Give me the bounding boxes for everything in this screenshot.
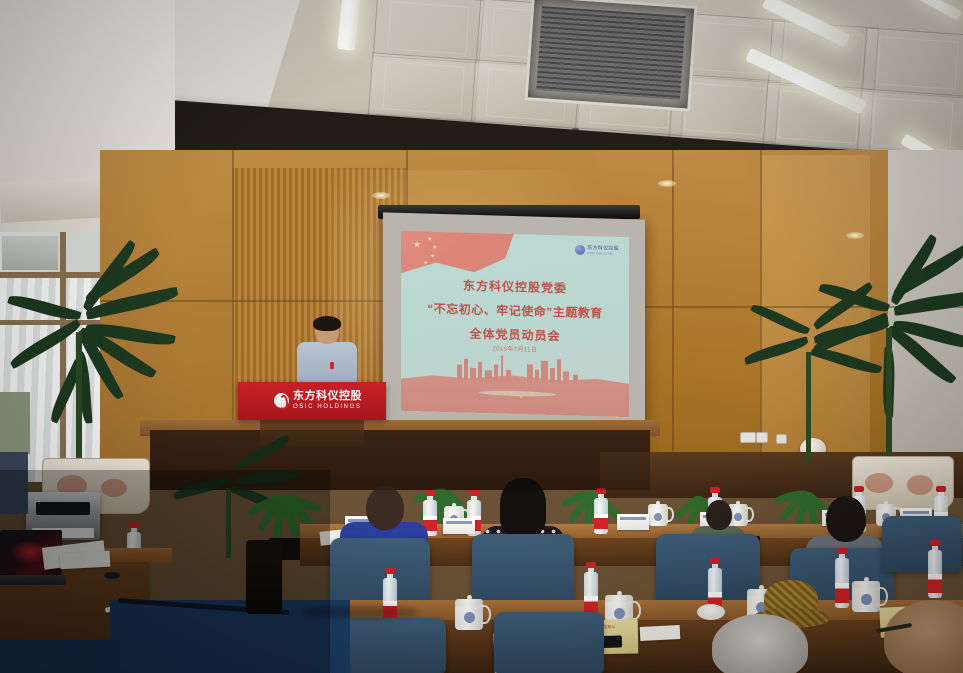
- slide-accent-star: ★: [509, 390, 513, 396]
- skyline-building: [464, 359, 468, 381]
- slide-accent-star: ★: [529, 391, 533, 397]
- palm-plant: [770, 300, 880, 480]
- palm-stem: [886, 328, 892, 468]
- osic-logo-icon: [274, 393, 289, 408]
- osic-logo-icon: [575, 244, 585, 254]
- presentation-slide: ★ ★ ★ ★ ★ 东方科仪控股 OSIC HOLDINGS 东方科仪控股党委 …: [401, 231, 629, 417]
- flag-star: ★: [430, 254, 435, 260]
- skyline-building: [470, 368, 476, 381]
- skyline-building: [494, 364, 498, 381]
- tea-mug[interactable]: [648, 502, 670, 526]
- skyline-building: [541, 361, 548, 383]
- skyline-building: [557, 359, 561, 383]
- name-card: [443, 518, 475, 534]
- attendee-head: [366, 486, 404, 530]
- water-bottle[interactable]: [594, 488, 608, 534]
- wall-downlight: [658, 180, 676, 187]
- water-bottle[interactable]: [928, 538, 942, 598]
- attendee-head: [706, 500, 732, 530]
- stage-shade: [150, 430, 650, 490]
- flag-star: ★: [427, 237, 432, 243]
- attendee-head: [826, 496, 866, 542]
- skyline-building: [550, 368, 555, 383]
- attendee-5: [700, 614, 820, 673]
- wall-outlet[interactable]: [756, 432, 768, 443]
- skyline-building: [573, 375, 578, 384]
- chair[interactable]: [338, 618, 446, 673]
- wall-downlight: [846, 232, 864, 239]
- slide-org-line: 东方科仪控股党委: [401, 275, 629, 298]
- meeting-room-photo: ★ ★ ★ ★ ★ 东方科仪控股 OSIC HOLDINGS 东方科仪控股党委 …: [0, 0, 963, 673]
- wall-outlet[interactable]: [740, 432, 756, 443]
- podium-logo-cn: 东方科仪控股: [293, 391, 362, 402]
- name-card: [617, 514, 649, 530]
- attendee-head: [712, 614, 808, 673]
- slide-ground-graphic: [401, 359, 629, 417]
- speaker-torso: [297, 342, 357, 386]
- water-bottle[interactable]: [584, 560, 598, 620]
- ceiling-tile: [368, 52, 479, 123]
- tea-mug[interactable]: [455, 596, 485, 630]
- wall-downlight: [372, 192, 390, 199]
- attendee-torso: [0, 392, 30, 454]
- tea-mug[interactable]: [852, 578, 882, 612]
- attendee-head: [884, 600, 963, 673]
- chair[interactable]: [882, 516, 962, 572]
- skyline-building: [457, 364, 462, 380]
- slide-logo: 东方科仪控股 OSIC HOLDINGS: [575, 244, 619, 256]
- slide-accent-star: ★: [519, 394, 523, 400]
- palm-frond: [810, 344, 882, 377]
- speaker-hair: [313, 316, 341, 331]
- skyline-building: [527, 364, 533, 382]
- skyline-building: [485, 370, 492, 381]
- slide-logo-en: OSIC HOLDINGS: [587, 251, 619, 256]
- speaker-person: [297, 318, 357, 384]
- attendee-6: [884, 600, 963, 673]
- skyline-building: [506, 370, 511, 382]
- flag-star: ★: [432, 245, 437, 251]
- slide-theme-line: “不忘初心、牢记使命”主题教育: [401, 299, 629, 322]
- skyline-building: [478, 362, 482, 381]
- podium-logo-en: OSIC HOLDINGS: [293, 404, 362, 410]
- flag-star: ★: [423, 260, 428, 266]
- flag-star: ★: [413, 241, 421, 247]
- water-bottle[interactable]: [835, 546, 849, 608]
- ceiling-ac-vent: [525, 0, 698, 112]
- palm-stem: [806, 352, 811, 462]
- slide-title-block: 东方科仪控股党委 “不忘初心、牢记使命”主题教育 全体党员动员会: [401, 275, 629, 346]
- palm-stem: [76, 332, 82, 472]
- ceiling-tile: [862, 27, 963, 98]
- pot-decoration: [907, 475, 933, 495]
- skyline-building: [563, 371, 569, 383]
- wall-seam: [672, 150, 674, 480]
- document-paper[interactable]: [640, 625, 681, 641]
- skyline-tower: [501, 356, 503, 382]
- party-pin: [330, 362, 334, 369]
- chair[interactable]: [494, 612, 604, 673]
- podium-logo: 东方科仪控股 OSIC HOLDINGS: [274, 391, 362, 410]
- skyline-building: [535, 370, 539, 383]
- podium-front-panel: 东方科仪控股 OSIC HOLDINGS: [238, 382, 386, 420]
- foreground-shade: [0, 470, 330, 673]
